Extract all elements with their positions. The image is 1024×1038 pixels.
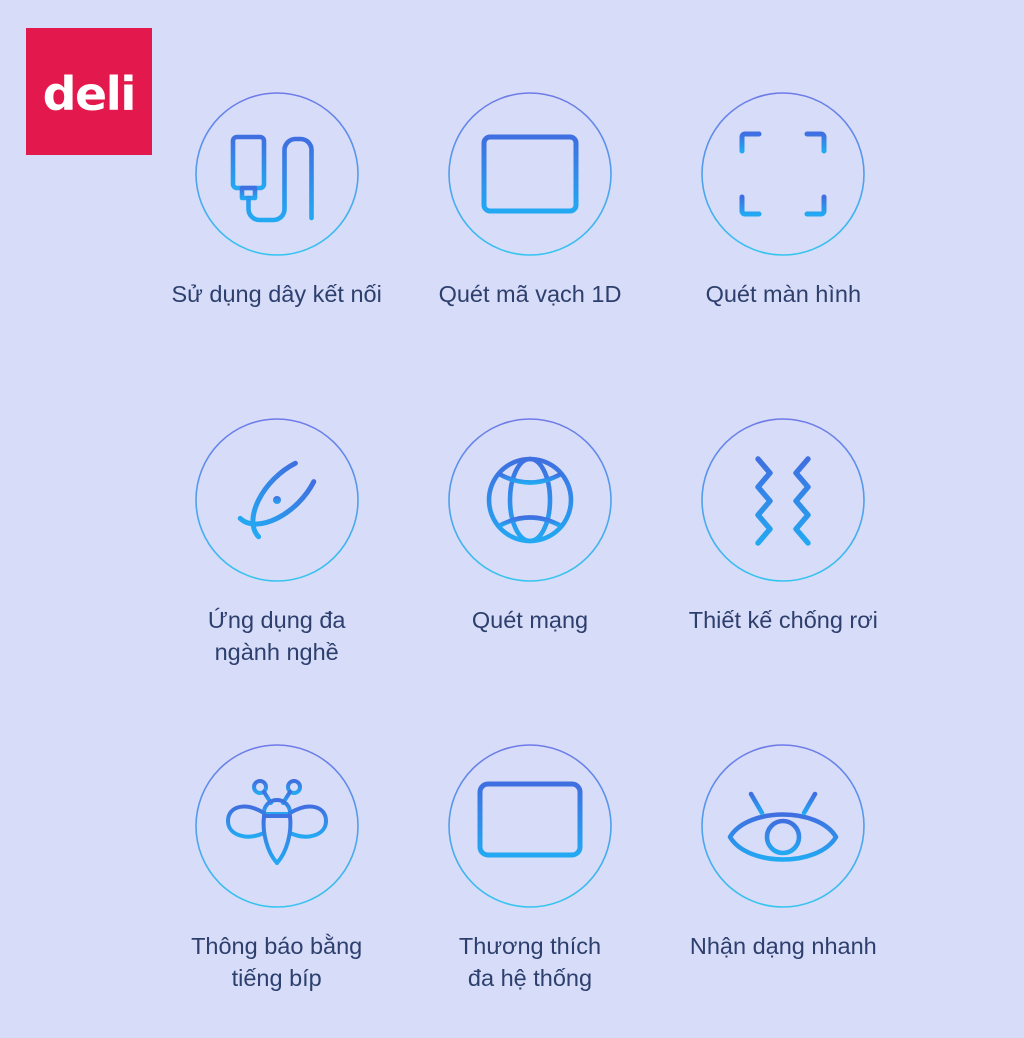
feature-item-beep-notify[interactable]: Thông báo bằng tiếng bíp bbox=[150, 712, 403, 1038]
feature-label: Ứng dụng đa ngành nghề bbox=[208, 605, 346, 668]
feature-label: Quét màn hình bbox=[706, 279, 861, 311]
brand-wordmark: deli bbox=[43, 71, 135, 117]
icon-ring bbox=[447, 743, 613, 909]
icon-ring bbox=[700, 91, 866, 257]
icon-ring bbox=[700, 417, 866, 583]
feature-item-multi-system[interactable]: Thương thích đa hệ thống bbox=[403, 712, 656, 1038]
feature-item-network-scan[interactable]: Quét mạng bbox=[403, 386, 656, 712]
scan-frame-icon bbox=[700, 91, 866, 257]
feature-label: Thiết kế chống rơi bbox=[689, 605, 878, 637]
brand-logo: deli bbox=[26, 28, 152, 155]
icon-ring bbox=[700, 743, 866, 909]
feature-item-scan-screen[interactable]: Quét màn hình bbox=[657, 60, 910, 386]
monitor-icon bbox=[447, 743, 613, 909]
barcode-1d-icon bbox=[447, 91, 613, 257]
feature-label: Sử dụng dây kết nối bbox=[171, 279, 381, 311]
feature-label: Quét mạng bbox=[472, 605, 588, 637]
feature-grid: Sử dụng dây kết nối bbox=[150, 60, 910, 1038]
feature-label: Thông báo bằng tiếng bíp bbox=[191, 931, 362, 994]
feature-item-multi-industry[interactable]: Ứng dụng đa ngành nghề bbox=[150, 386, 403, 712]
icon-ring bbox=[194, 91, 360, 257]
feature-label: Quét mã vạch 1D bbox=[439, 279, 622, 311]
feature-item-fast-recognition[interactable]: Nhận dạng nhanh bbox=[657, 712, 910, 1038]
zigzag-shock-icon bbox=[700, 417, 866, 583]
icon-ring bbox=[447, 417, 613, 583]
eye-icon bbox=[700, 743, 866, 909]
icon-ring bbox=[194, 417, 360, 583]
atom-icon bbox=[194, 417, 360, 583]
bee-icon bbox=[194, 743, 360, 909]
feature-item-barcode[interactable]: Quét mã vạch 1D bbox=[403, 60, 656, 386]
icon-ring bbox=[194, 743, 360, 909]
feature-label: Thương thích đa hệ thống bbox=[459, 931, 601, 994]
feature-item-drop-resistant[interactable]: Thiết kế chống rơi bbox=[657, 386, 910, 712]
feature-label: Nhận dạng nhanh bbox=[690, 931, 877, 963]
usb-cable-icon bbox=[194, 91, 360, 257]
feature-item-usb-cable[interactable]: Sử dụng dây kết nối bbox=[150, 60, 403, 386]
icon-ring bbox=[447, 91, 613, 257]
globe-icon bbox=[447, 417, 613, 583]
